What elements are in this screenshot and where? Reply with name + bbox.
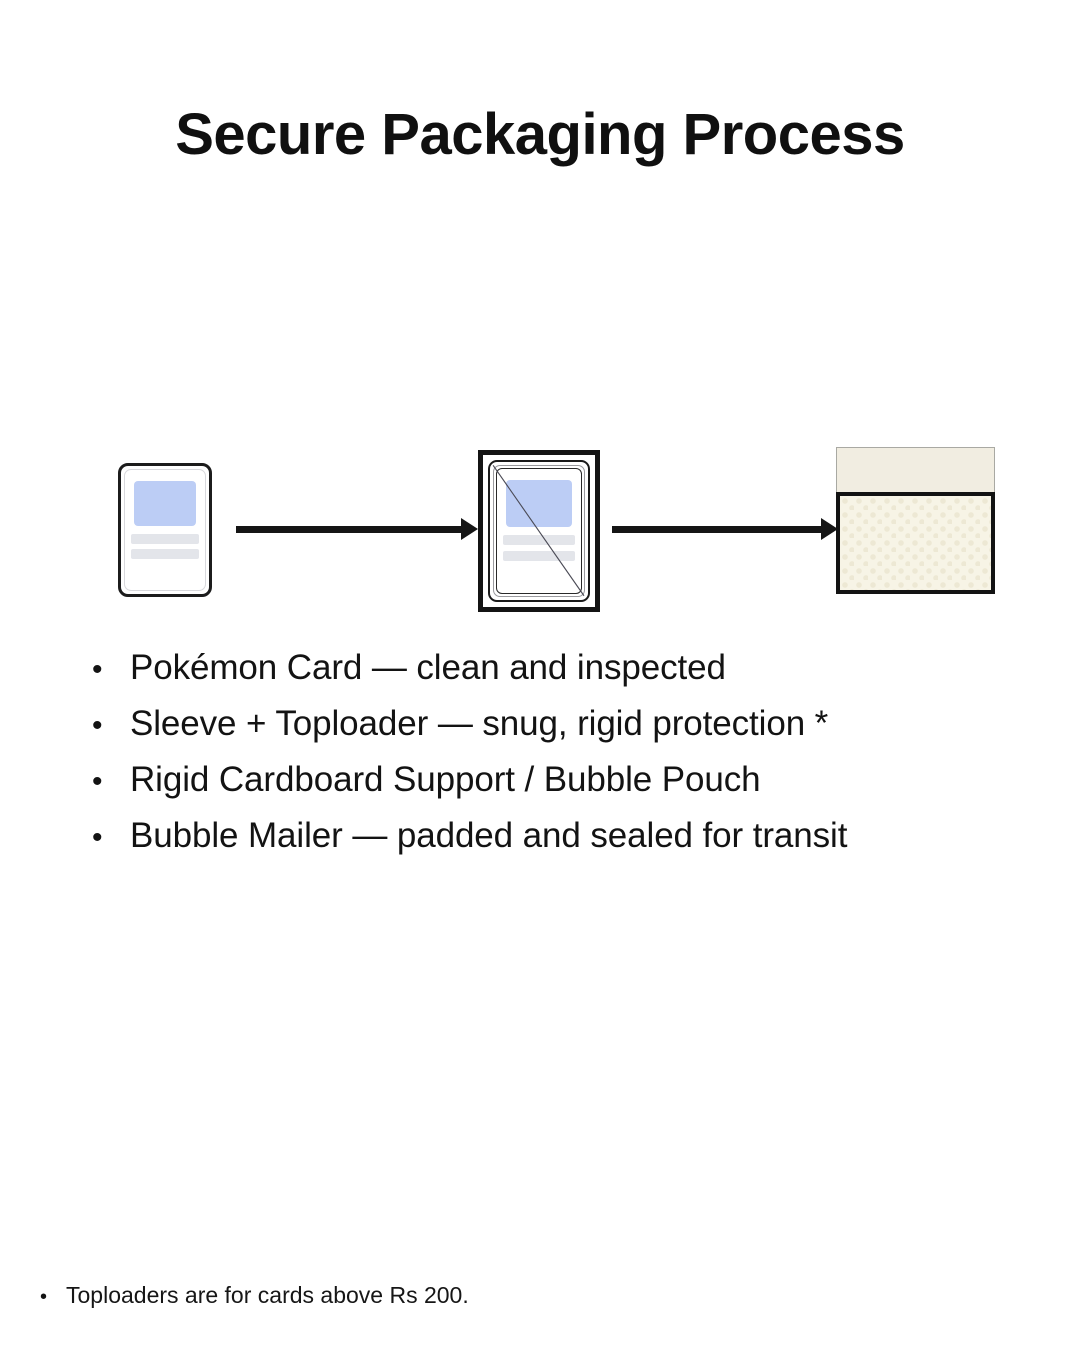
card-text-bar: [503, 535, 575, 546]
bubble-wrap-pattern: [840, 496, 991, 590]
list-item: • Pokémon Card — clean and inspected: [92, 648, 1052, 704]
list-item-label: Pokémon Card — clean and inspected: [130, 648, 726, 688]
card-inside-sleeve: [496, 468, 582, 594]
glare-line-icon: [483, 455, 595, 607]
card-text-bar: [131, 534, 200, 544]
bubble-mailer-flap: [836, 447, 995, 493]
list-item-label: Rigid Cardboard Support / Bubble Pouch: [130, 760, 761, 800]
sleeve-lip: [493, 465, 585, 597]
footnote-label: Toploaders are for cards above Rs 200.: [66, 1282, 469, 1309]
card-text-bar: [131, 549, 200, 559]
card-artwork-block: [506, 480, 572, 527]
card-face: [124, 469, 206, 591]
trading-card-icon: [118, 463, 212, 597]
card-text-bar: [503, 551, 575, 562]
list-item-label: Sleeve + Toploader — snug, rigid protect…: [130, 704, 828, 744]
sleeve-outline: [488, 460, 590, 602]
bullet-marker: •: [92, 823, 130, 853]
page-title: Secure Packaging Process: [0, 103, 1080, 167]
packaging-steps-list: • Pokémon Card — clean and inspected • S…: [92, 648, 1052, 872]
list-item-label: Bubble Mailer — padded and sealed for tr…: [130, 816, 847, 856]
list-item: • Rigid Cardboard Support / Bubble Pouch: [92, 760, 1052, 816]
card-artwork-block: [134, 481, 196, 527]
bullet-marker: •: [40, 1287, 66, 1307]
footnote: • Toploaders are for cards above Rs 200.: [40, 1282, 469, 1309]
arrow-2-shaft: [612, 526, 824, 533]
list-item: • Bubble Mailer — padded and sealed for …: [92, 816, 1052, 872]
toploader-icon: [478, 450, 600, 612]
bubble-mailer-icon: [836, 492, 995, 594]
bullet-marker: •: [92, 711, 130, 741]
arrow-1-shaft: [236, 526, 464, 533]
list-item: • Sleeve + Toploader — snug, rigid prote…: [92, 704, 1052, 760]
arrow-1-head-icon: [461, 518, 478, 540]
bullet-marker: •: [92, 655, 130, 685]
arrow-2-head-icon: [821, 518, 838, 540]
bullet-marker: •: [92, 767, 130, 797]
